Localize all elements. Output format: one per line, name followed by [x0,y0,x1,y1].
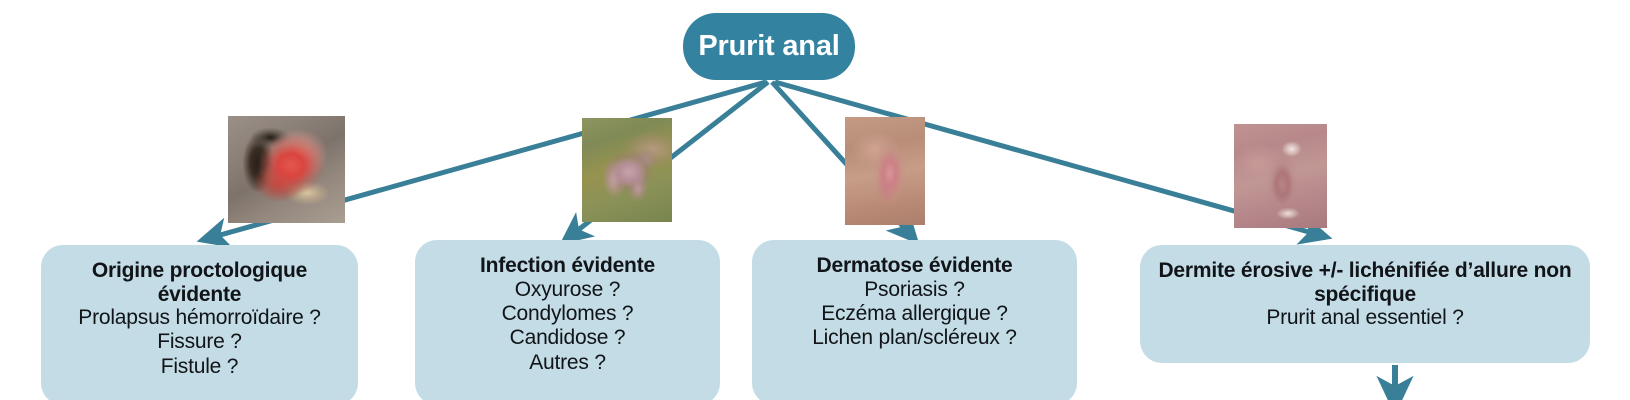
branch-line: Prolapsus hémorroïdaire ? [51,306,348,330]
diagram-canvas: Prurit anal Origine proctologique éviden… [0,0,1630,400]
branch-line: Lichen plan/scléreux ? [762,326,1067,350]
dermite-erosive-photo [1234,124,1327,228]
branch-line: Prurit anal essentiel ? [1150,306,1580,330]
root-node-label: Prurit anal [698,30,839,63]
branch-line: Autres ? [425,351,710,375]
branch-box-origine-proctologique[interactable]: Origine proctologique évidente Prolapsus… [41,245,358,400]
branch-title: Infection évidente [425,254,710,278]
branch-title: Origine proctologique évidente [51,259,348,306]
branch-title: Dermatose évidente [762,254,1067,278]
branch-line: Fistule ? [51,355,348,379]
branch-box-dermite-erosive[interactable]: Dermite érosive +/- lichénifiée d’allure… [1140,245,1590,363]
root-node-prurit-anal[interactable]: Prurit anal [683,13,855,80]
branch-box-dermatose[interactable]: Dermatose évidente Psoriasis ? Eczéma al… [752,240,1077,400]
branch-line: Oxyurose ? [425,278,710,302]
branch-line: Condylomes ? [425,302,710,326]
branch-box-infection[interactable]: Infection évidente Oxyurose ? Condylomes… [415,240,720,400]
dermatose-photo [845,117,925,225]
branch-line: Candidose ? [425,326,710,350]
branch-title: Dermite érosive +/- lichénifiée d’allure… [1150,259,1580,306]
prolapsus-hemorroidaire-photo [228,116,345,223]
branch-line: Psoriasis ? [762,278,1067,302]
branch-line: Eczéma allergique ? [762,302,1067,326]
branch-line: Fissure ? [51,330,348,354]
condylomes-photo [582,118,672,222]
